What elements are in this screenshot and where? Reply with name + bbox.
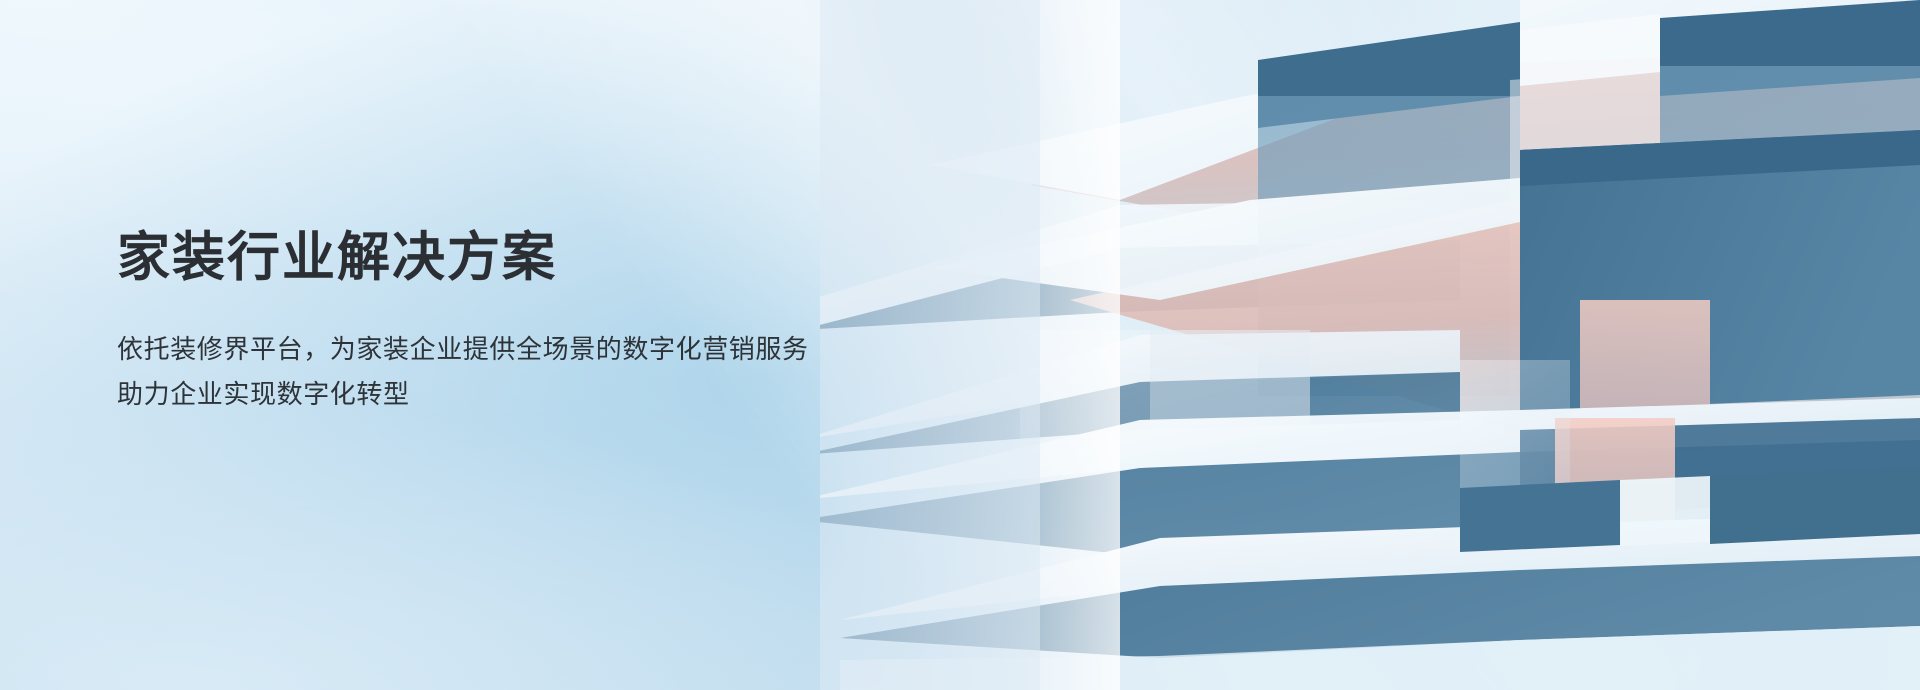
- hero-banner: 家装行业解决方案 依托装修界平台，为家装企业提供全场景的数字化营销服务 助力企业…: [0, 0, 1920, 690]
- hero-subtitle: 依托装修界平台，为家装企业提供全场景的数字化营销服务 助力企业实现数字化转型: [117, 287, 977, 416]
- hero-copy: 家装行业解决方案 依托装修界平台，为家装企业提供全场景的数字化营销服务 助力企业…: [117, 228, 977, 417]
- hero-subtitle-line-2: 助力企业实现数字化转型: [117, 372, 977, 417]
- hero-subtitle-line-1: 依托装修界平台，为家装企业提供全场景的数字化营销服务: [117, 327, 977, 372]
- page-title: 家装行业解决方案: [117, 228, 977, 287]
